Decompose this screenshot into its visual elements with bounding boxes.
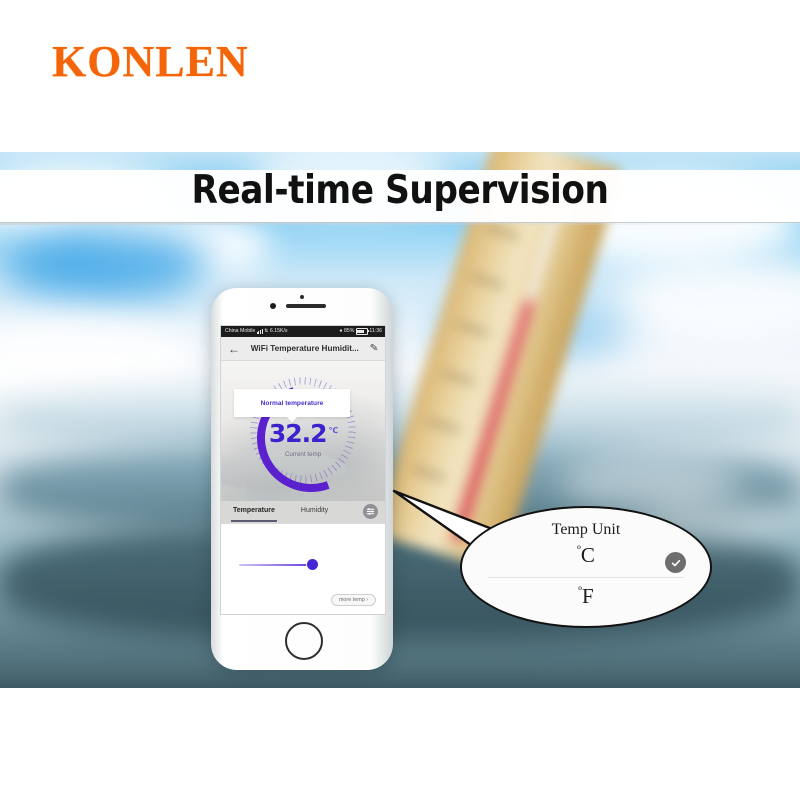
carrier-label: China Mobile	[225, 326, 255, 337]
temperature-number: 32.2	[269, 419, 327, 448]
app-nav-bar: ← WiFi Temperature Humidit... ✎	[221, 337, 385, 361]
phone-camera-icon	[270, 303, 276, 309]
phone-mockup: China Mobile ⇅ 6.15K/s ● 85% 11:36 ← WiF…	[211, 288, 393, 670]
home-button[interactable]	[285, 622, 323, 660]
more-temp-button[interactable]: more temp ›	[331, 594, 376, 606]
pencil-icon[interactable]: ✎	[369, 343, 378, 355]
divider	[488, 577, 684, 578]
unit-letter: F	[582, 584, 594, 608]
status-bar: China Mobile ⇅ 6.15K/s ● 85% 11:36	[221, 326, 385, 337]
temperature-chart-panel: more temp ›	[221, 523, 385, 615]
callout-title: Temp Unit	[462, 521, 710, 539]
back-arrow-icon[interactable]: ←	[228, 343, 240, 355]
temperature-unit: ℃	[329, 426, 338, 435]
temp-unit-callout: Temp Unit ºC ºF	[460, 506, 712, 628]
cloud-shape	[620, 262, 800, 342]
thermometer-mark	[441, 370, 475, 385]
clock-label: 11:36	[369, 326, 382, 337]
background-photo-detail	[241, 475, 245, 501]
current-temperature-value: 32.2℃	[221, 421, 385, 446]
temp-unit-option-fahrenheit[interactable]: ºF	[462, 584, 710, 609]
thermometer-mark	[412, 467, 446, 482]
sky-patch	[0, 230, 210, 300]
app-title: WiFi Temperature Humidit...	[240, 344, 370, 353]
thermometer-mark	[427, 418, 461, 433]
tab-humidity[interactable]: Humidity	[301, 507, 328, 518]
status-badge: Normal temperature	[234, 389, 350, 417]
phone-sensor-icon	[300, 295, 304, 299]
chart-point-knob[interactable]	[307, 559, 318, 570]
thermometer-mark	[471, 274, 505, 289]
thermometer-mark	[456, 322, 490, 337]
sliders-icon[interactable]	[363, 504, 378, 519]
signal-icon	[257, 329, 263, 334]
network-speed-label: 6.15K/s	[270, 326, 288, 337]
chart-line	[239, 564, 311, 566]
battery-percent-label: 85%	[344, 326, 354, 337]
thermometer-mark	[485, 226, 519, 241]
phone-screen: China Mobile ⇅ 6.15K/s ● 85% 11:36 ← WiF…	[220, 325, 386, 615]
status-bar-left: China Mobile ⇅ 6.15K/s	[225, 326, 288, 337]
tab-bar: Temperature Humidity	[221, 501, 385, 523]
gauge-area: Normal temperature 32.2℃ Current temp	[221, 361, 385, 501]
battery-icon	[356, 328, 368, 335]
network-type-icon: ⇅	[264, 326, 268, 337]
check-circle-icon[interactable]	[665, 552, 686, 573]
sea-band	[0, 382, 800, 452]
page-title: Real-time Supervision	[48, 168, 752, 213]
status-bar-right: ● 85% 11:36	[339, 326, 382, 337]
shield-icon: ●	[339, 326, 342, 337]
page-root: KONLEN Real-time Supervision	[0, 0, 800, 800]
unit-letter: C	[581, 543, 595, 567]
brand-logo: KONLEN	[52, 36, 249, 87]
tab-temperature[interactable]: Temperature	[233, 507, 275, 518]
current-temperature-label: Current temp	[221, 451, 385, 458]
phone-speaker-icon	[286, 304, 326, 308]
